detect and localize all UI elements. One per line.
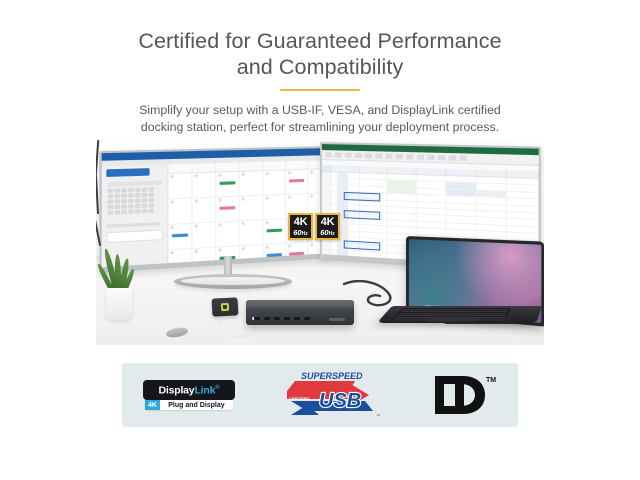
calendar-day-cell[interactable]	[193, 173, 217, 198]
calendar-day-cell[interactable]	[240, 171, 263, 195]
marketing-slide: Certified for Guaranteed Performance and…	[0, 0, 640, 480]
displayport-mark: TM	[427, 370, 497, 420]
docking-station	[246, 300, 354, 325]
phone-screen-icon	[221, 303, 229, 311]
title-divider	[280, 89, 360, 91]
selected-cell[interactable]	[344, 210, 380, 220]
calendar-event[interactable]	[220, 206, 236, 210]
calendar-event[interactable]	[172, 233, 189, 237]
badge-refresh-unit: Hz	[302, 231, 308, 237]
displaylink-wordmark: DisplayLink®	[143, 380, 235, 400]
calendar-event[interactable]	[289, 252, 304, 256]
calendar-event[interactable]	[220, 181, 236, 185]
mini-calendar-header	[107, 181, 161, 187]
displaylink-plug-and-display-label: Plug and Display	[160, 400, 233, 410]
badge-refresh-unit: Hz	[329, 231, 335, 237]
calendar-day-cell[interactable]	[168, 224, 192, 250]
page-subtitle-line2: docking station, perfect for streamlinin…	[0, 119, 640, 136]
calendar-day-cell[interactable]	[263, 219, 286, 244]
page-subtitle-line1: Simplify your setup with a USB-IF, VESA,…	[0, 102, 640, 119]
laptop-base	[377, 306, 542, 323]
laptop-trackpad[interactable]	[427, 317, 478, 322]
resolution-badges: 4K 60Hz 4K 60Hz	[288, 213, 340, 240]
new-event-button[interactable]	[106, 168, 149, 177]
resolution-badge: 4K 60Hz	[315, 213, 340, 240]
displaylink-word-link: Link	[194, 385, 215, 397]
calendar-day-cell[interactable]	[193, 198, 217, 223]
left-monitor	[99, 146, 332, 273]
calendar-day-cell[interactable]	[240, 196, 263, 221]
dock-top-surface	[246, 300, 354, 307]
dock-brand-mark	[329, 318, 345, 321]
laptop	[392, 236, 542, 345]
calendar-day-cell[interactable]	[217, 221, 240, 246]
calendar-app-screen	[102, 148, 330, 267]
page-title: Certified for Guaranteed Performance and…	[0, 28, 640, 80]
calendar-day-cell[interactable]	[263, 195, 286, 219]
calendar-month-grid	[168, 160, 330, 263]
calendar-list-label	[106, 222, 160, 228]
calendar-day-cell[interactable]	[168, 173, 192, 198]
mini-calendar	[107, 181, 161, 216]
resolution-badge: 4K 60Hz	[288, 213, 313, 240]
plant-pot	[106, 288, 132, 320]
calendar-event[interactable]	[266, 253, 282, 257]
displaylink-subbadge: 4K Plug and Display	[145, 400, 233, 410]
badge-resolution: 4K	[321, 217, 334, 228]
superspeed-usb-logo: SUPER SPEED CERTIFIED USB ™	[277, 369, 385, 421]
monitor-stand-base	[174, 274, 292, 289]
badge-refresh: 60	[320, 228, 328, 237]
calendar-event[interactable]	[266, 229, 282, 233]
displaylink-logo: DisplayLink® 4K Plug and Display	[143, 380, 235, 410]
superspeed-text-usb: USB	[319, 390, 361, 412]
superspeed-usb-mark: SUPER SPEED CERTIFIED USB ™	[277, 369, 385, 421]
mini-calendar-week	[107, 208, 161, 215]
displaylink-trademark: ®	[215, 385, 219, 391]
selected-cell[interactable]	[344, 192, 380, 202]
calendar-day-cell[interactable]	[168, 249, 192, 267]
calendar-day-cell[interactable]	[217, 197, 240, 222]
superspeed-text-certified: CERTIFIED	[289, 396, 310, 401]
displayport-trademark: TM	[486, 377, 496, 384]
calendar-day-cell[interactable]	[240, 220, 263, 245]
superspeed-trademark: ™	[376, 413, 380, 418]
page-title-line1: Certified for Guaranteed Performance	[0, 28, 640, 54]
calendar-day-cell[interactable]	[193, 223, 217, 248]
superspeed-text-speed: SPEED	[332, 371, 363, 381]
calendar-day-cell[interactable]	[217, 172, 240, 197]
calendar-day-cell[interactable]	[168, 198, 192, 223]
displayport-logo: TM	[427, 370, 497, 420]
page-title-line2: and Compatibility	[0, 54, 640, 80]
calendar-list-item[interactable]	[106, 229, 163, 243]
smartphone	[212, 297, 239, 316]
calendar-event[interactable]	[289, 179, 304, 183]
laptop-keyboard[interactable]	[395, 308, 511, 316]
badge-refresh: 60	[293, 228, 301, 237]
badge-resolution: 4K	[294, 217, 307, 228]
calendar-day-cell[interactable]	[263, 170, 286, 194]
page-subtitle: Simplify your setup with a USB-IF, VESA,…	[0, 102, 640, 135]
certification-logo-strip: DisplayLink® 4K Plug and Display SUPER S…	[122, 363, 518, 427]
header-block: Certified for Guaranteed Performance and…	[0, 28, 640, 135]
displaylink-4k-chip: 4K	[145, 400, 160, 410]
calendar-day-cell[interactable]	[193, 248, 217, 268]
calendar-sidebar	[102, 164, 169, 267]
product-photo: 4K 60Hz 4K 60Hz	[96, 140, 544, 345]
calendar-day-cell[interactable]	[286, 170, 308, 194]
displaylink-word-display: Display	[159, 385, 195, 397]
superspeed-text-super: SUPER	[301, 371, 333, 381]
